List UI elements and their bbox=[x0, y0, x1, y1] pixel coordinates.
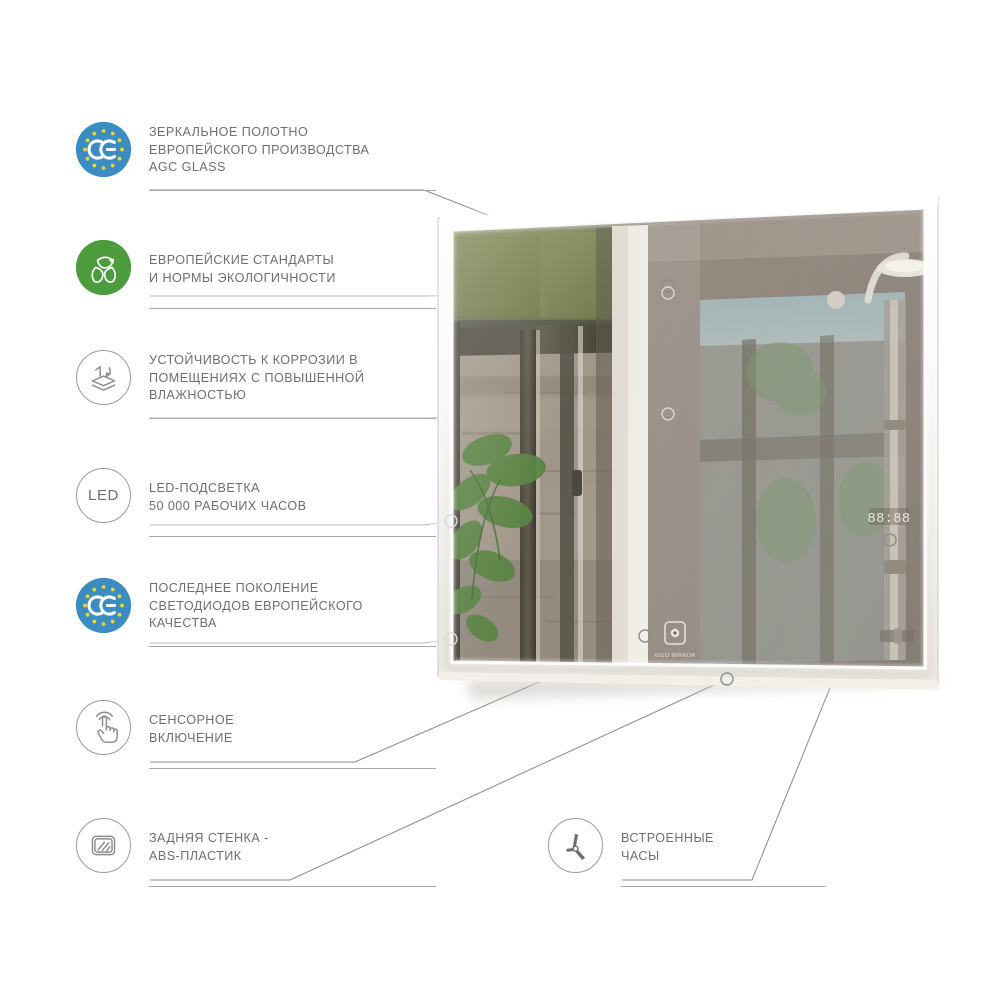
feature-divider bbox=[149, 418, 436, 419]
feature-divider bbox=[149, 190, 436, 191]
abs-panel-icon bbox=[76, 818, 131, 873]
feature-built-in-clock: ВСТРОЕННЫЕ ЧАСЫ bbox=[548, 818, 908, 898]
clock-icon bbox=[548, 818, 603, 873]
ce-mark-icon bbox=[76, 578, 131, 633]
feature-label: СЕНСОРНОЕ ВКЛЮЧЕНИЕ bbox=[149, 712, 449, 747]
feature-touch-switch: СЕНСОРНОЕ ВКЛЮЧЕНИЕ bbox=[76, 700, 436, 780]
moisture-layers-icon bbox=[76, 350, 131, 405]
feature-divider bbox=[149, 768, 436, 769]
feature-eco-standards: ЕВРОПЕЙСКИЕ СТАНДАРТЫ И НОРМЫ ЭКОЛОГИЧНО… bbox=[76, 240, 436, 320]
feature-label: ПОСЛЕДНЕЕ ПОКОЛЕНИЕ СВЕТОДИОДОВ ЕВРОПЕЙС… bbox=[149, 580, 449, 633]
feature-label: УСТОЙЧИВОСТЬ К КОРРОЗИИ В ПОМЕЩЕНИЯХ С П… bbox=[149, 352, 449, 405]
led-text-icon: LED bbox=[76, 468, 131, 523]
feature-corrosion-resistance: УСТОЙЧИВОСТЬ К КОРРОЗИИ В ПОМЕЩЕНИЯХ С П… bbox=[76, 350, 436, 430]
feature-divider bbox=[149, 646, 436, 647]
feature-divider bbox=[621, 886, 826, 887]
feature-abs-back-panel: ЗАДНЯЯ СТЕНКА - ABS-ПЛАСТИК bbox=[76, 818, 436, 898]
feature-led-backlight: LED LED-ПОДСВЕТКА 50 000 РАБОЧИХ ЧАСОВ bbox=[76, 468, 436, 548]
feature-divider bbox=[149, 886, 436, 887]
feature-divider bbox=[149, 308, 436, 309]
infographic-canvas: VIGO MIRROR 88:88 bbox=[0, 0, 1000, 1000]
eco-leaves-icon bbox=[76, 240, 131, 295]
feature-label: ВСТРОЕННЫЕ ЧАСЫ bbox=[621, 830, 921, 865]
feature-label: ЕВРОПЕЙСКИЕ СТАНДАРТЫ И НОРМЫ ЭКОЛОГИЧНО… bbox=[149, 252, 449, 287]
feature-label: ЗЕРКАЛЬНОЕ ПОЛОТНО ЕВРОПЕЙСКОГО ПРОИЗВОД… bbox=[149, 124, 449, 177]
feature-led-generation: ПОСЛЕДНЕЕ ПОКОЛЕНИЕ СВЕТОДИОДОВ ЕВРОПЕЙС… bbox=[76, 578, 436, 658]
feature-label: ЗАДНЯЯ СТЕНКА - ABS-ПЛАСТИК bbox=[149, 830, 449, 865]
feature-divider bbox=[149, 536, 436, 537]
led-icon-label: LED bbox=[88, 487, 119, 504]
feature-label: LED-ПОДСВЕТКА 50 000 РАБОЧИХ ЧАСОВ bbox=[149, 480, 449, 515]
feature-agc-glass: ЗЕРКАЛЬНОЕ ПОЛОТНО ЕВРОПЕЙСКОГО ПРОИЗВОД… bbox=[76, 122, 436, 202]
touch-hand-icon bbox=[76, 700, 131, 755]
ce-mark-icon bbox=[76, 122, 131, 177]
